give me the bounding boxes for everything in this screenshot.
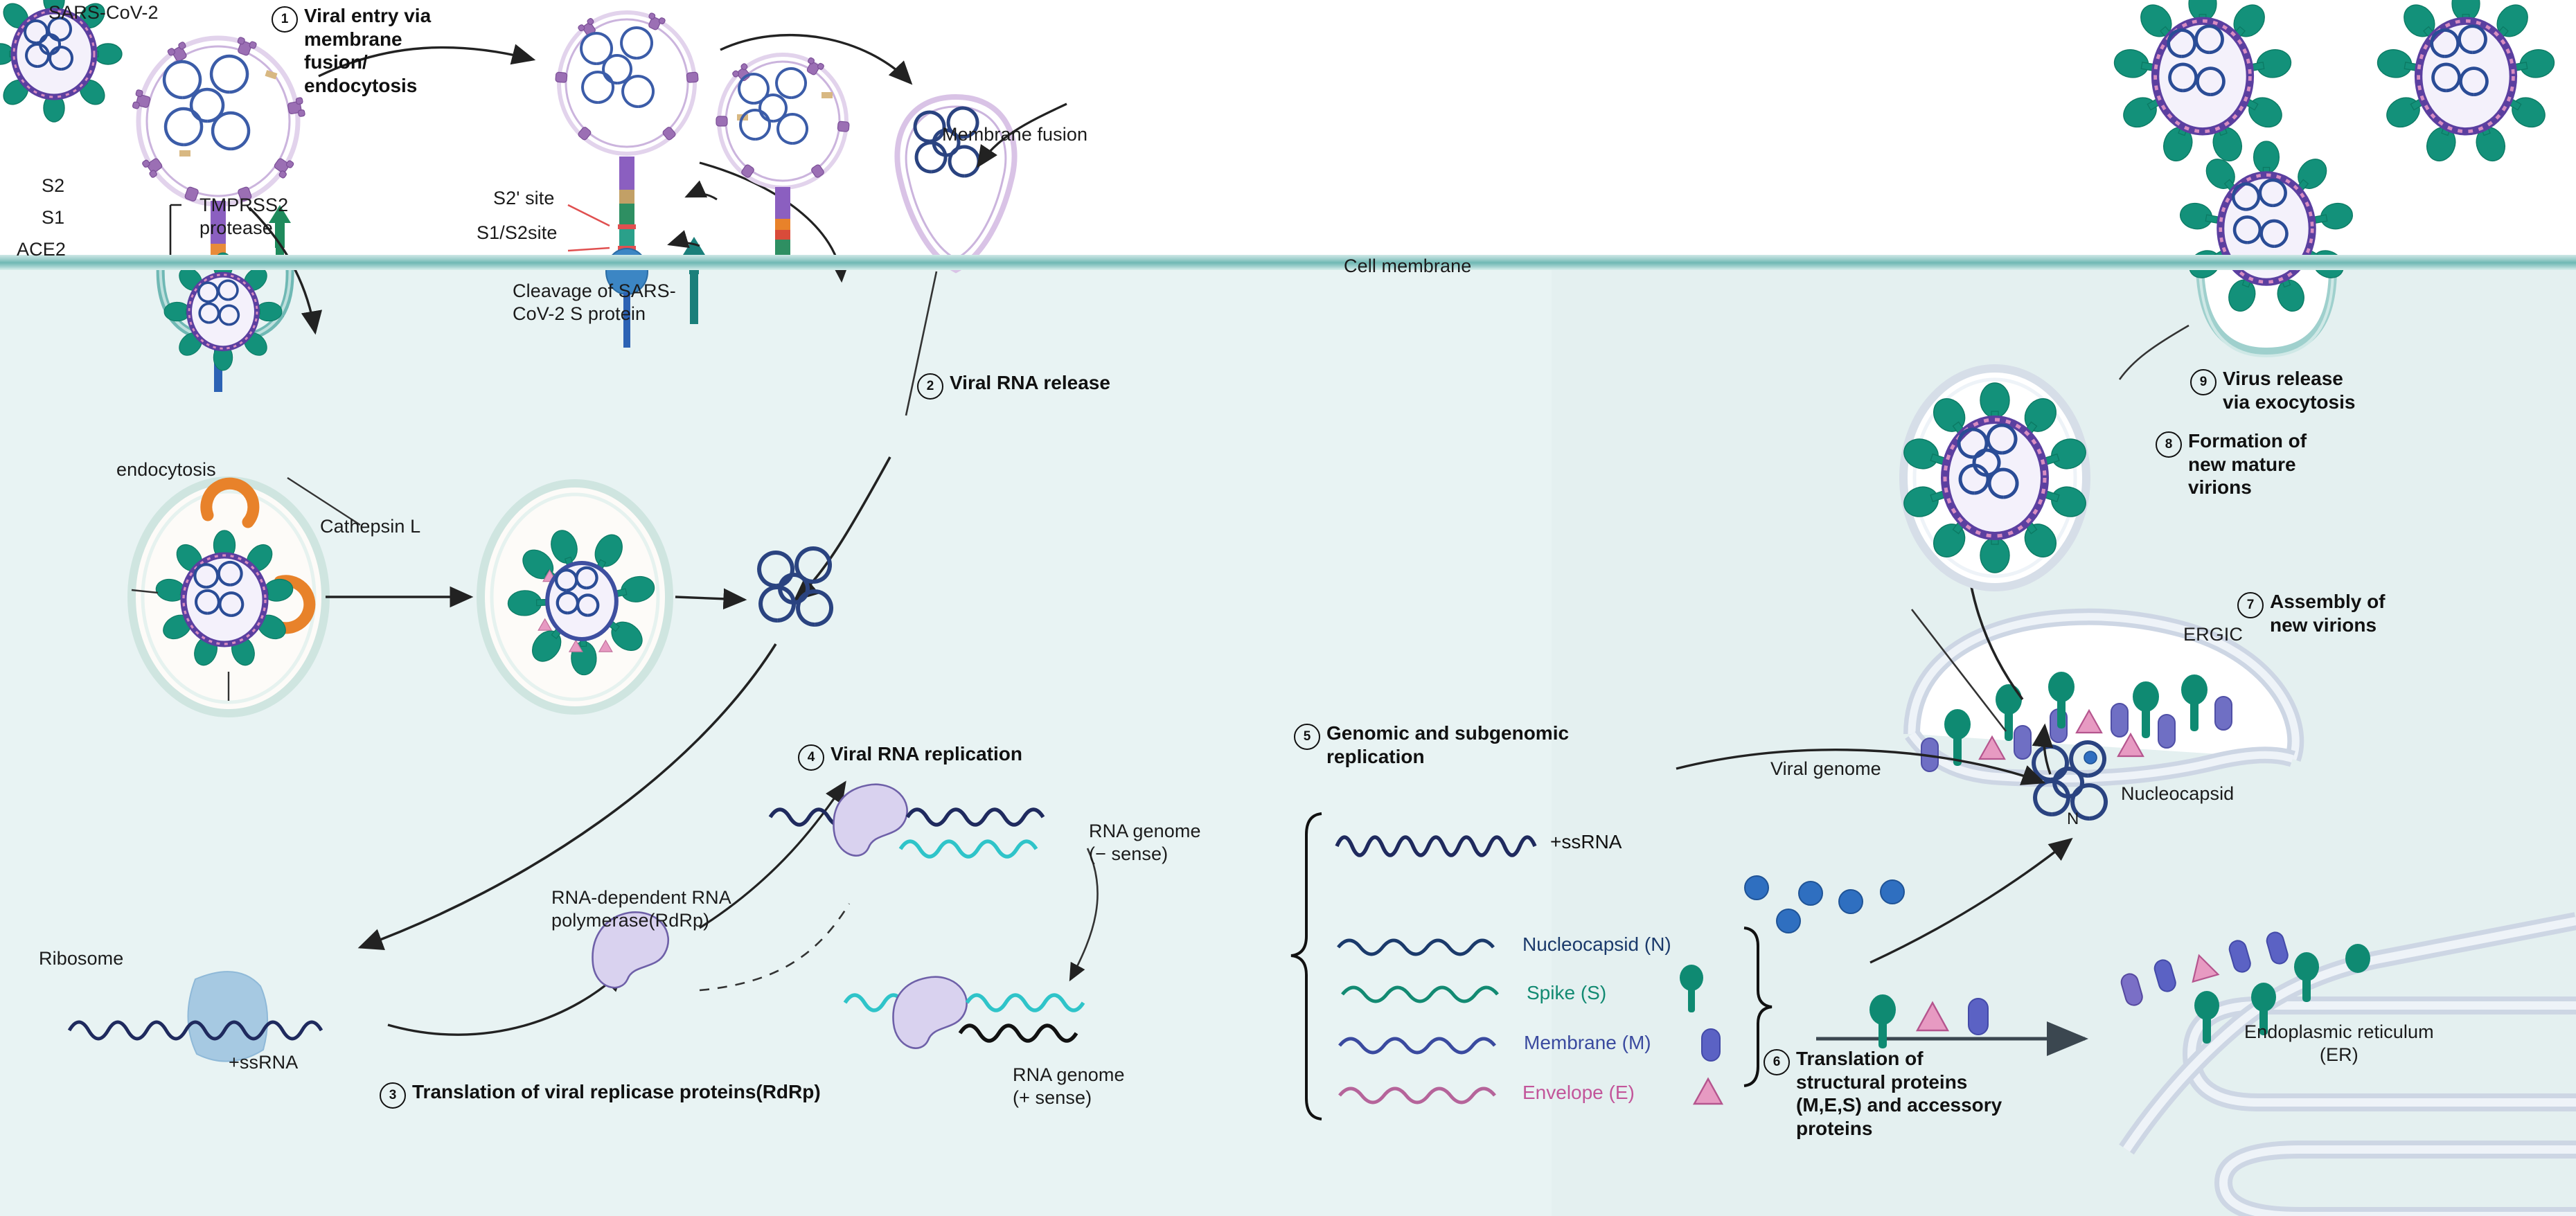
label-s1: S1 [42,206,64,229]
step-6-translation-structural: 6 Translation of structural proteins (M,… [1764,1047,2002,1140]
label-n-marker: N [2067,809,2079,830]
step-number-4: 4 [798,744,824,771]
step-text-9: Virus release via exocytosis [2223,367,2355,413]
legend-label-spike: Spike (S) [1527,982,1606,1004]
label-cathepsin-l: Cathepsin L [320,515,420,538]
label-endoplasmic-reticulum: Endoplasmic reticulum (ER) [2244,1021,2434,1067]
step-text-3: Translation of viral replicase proteins(… [412,1080,821,1104]
step-9-virus-release: 9 Virus release via exocytosis [2190,367,2355,413]
label-endocytosis: endocytosis [116,458,216,481]
step-number-5: 5 [1294,724,1320,750]
step-text-7: Assembly of new virions [2270,590,2386,636]
step-number-3: 3 [380,1082,406,1109]
label-s1-s2-site: S1/S2site [477,222,557,244]
cleavage-site-ticks [568,205,610,251]
label-cell-membrane: Cell membrane [1344,255,1471,278]
virion-cleavage [556,12,698,154]
step-text-8: Formation of new mature virions [2188,429,2307,499]
legend-label-membrane: Membrane (M) [1524,1032,1651,1054]
legend-row-nucleocapsid: Nucleocapsid (N) [1522,933,1671,956]
label-nucleocapsid-structure: Nucleocapsid [2121,783,2234,805]
step-number-8: 8 [2156,431,2182,458]
step-7-assembly: 7 Assembly of new virions [2237,590,2386,636]
label-rna-genome-plus: RNA genome (+ sense) [1013,1064,1125,1110]
step-text-4: Viral RNA replication [830,742,1022,766]
step-8-formation-mature-virions: 8 Formation of new mature virions [2156,429,2307,499]
cytoplasm-region-right [1552,269,2576,1216]
label-viral-genome: Viral genome [1770,758,1881,780]
label-membrane-fusion: Membrane fusion [942,123,1087,146]
step-5-genomic-subgenomic: 5 Genomic and subgenomic replication [1294,722,1569,768]
diagram-canvas: SARS-CoV-2 S2 S1 ACE2 TMPRSS2 protease S… [0,0,2576,1216]
legend-row-spike: Spike (S) [1527,982,1606,1004]
legend-label-envelope: Envelope (E) [1522,1082,1635,1104]
legend-label-plus-ssrna: +ssRNA [1550,831,1622,853]
step-text-2: Viral RNA release [950,371,1110,395]
spike-stalk-prefusion [775,187,790,265]
cleavage-pointer-arrows [669,194,717,246]
arrow-to-fusion [720,35,911,83]
step-number-2: 2 [917,373,943,400]
legend-row-plus-ssrna: +ssRNA [1550,831,1622,853]
cell-membrane-bar [0,255,2576,270]
label-cleavage: Cleavage of SARS- CoV-2 S protein [513,280,676,326]
label-ergic: ERGIC [2183,623,2243,646]
step-1-viral-entry: 1 Viral entry via membrane fusion/ endoc… [272,4,431,97]
virion-released-2 [2375,0,2556,165]
step-text-1: Viral entry via membrane fusion/ endocyt… [304,4,431,97]
step-number-1: 1 [272,6,298,33]
step-3-translation-replicase: 3 Translation of viral replicase protein… [380,1080,821,1109]
label-s2: S2 [42,175,64,197]
label-plus-ssrna-ribosome: +ssRNA [229,1051,298,1074]
label-s2-prime-site: S2' site [493,187,555,210]
step-number-6: 6 [1764,1049,1790,1075]
legend-label-nucleocapsid: Nucleocapsid (N) [1522,933,1671,956]
label-rdrp: RNA-dependent RNA polymerase(RdRp) [551,886,731,933]
legend-row-membrane: Membrane (M) [1524,1032,1651,1054]
step-number-7: 7 [2237,592,2264,618]
step-text-5: Genomic and subgenomic replication [1326,722,1569,768]
virion-prefusion [716,55,849,188]
label-tmprss2-protease: TMPRSS2 protease [199,194,288,240]
legend-row-envelope: Envelope (E) [1522,1082,1635,1104]
step-4-viral-rna-replication: 4 Viral RNA replication [798,742,1022,771]
step-text-6: Translation of structural proteins (M,E,… [1796,1047,2002,1140]
step-2-viral-rna-release: 2 Viral RNA release [917,371,1110,400]
step-number-9: 9 [2190,369,2217,395]
label-rna-genome-minus: RNA genome (− sense) [1089,820,1201,866]
label-sars-cov-2: SARS-CoV-2 [48,1,159,24]
virion-released-1 [2112,0,2293,165]
label-ace2: ACE2 [17,238,66,261]
label-ribosome: Ribosome [39,947,123,970]
